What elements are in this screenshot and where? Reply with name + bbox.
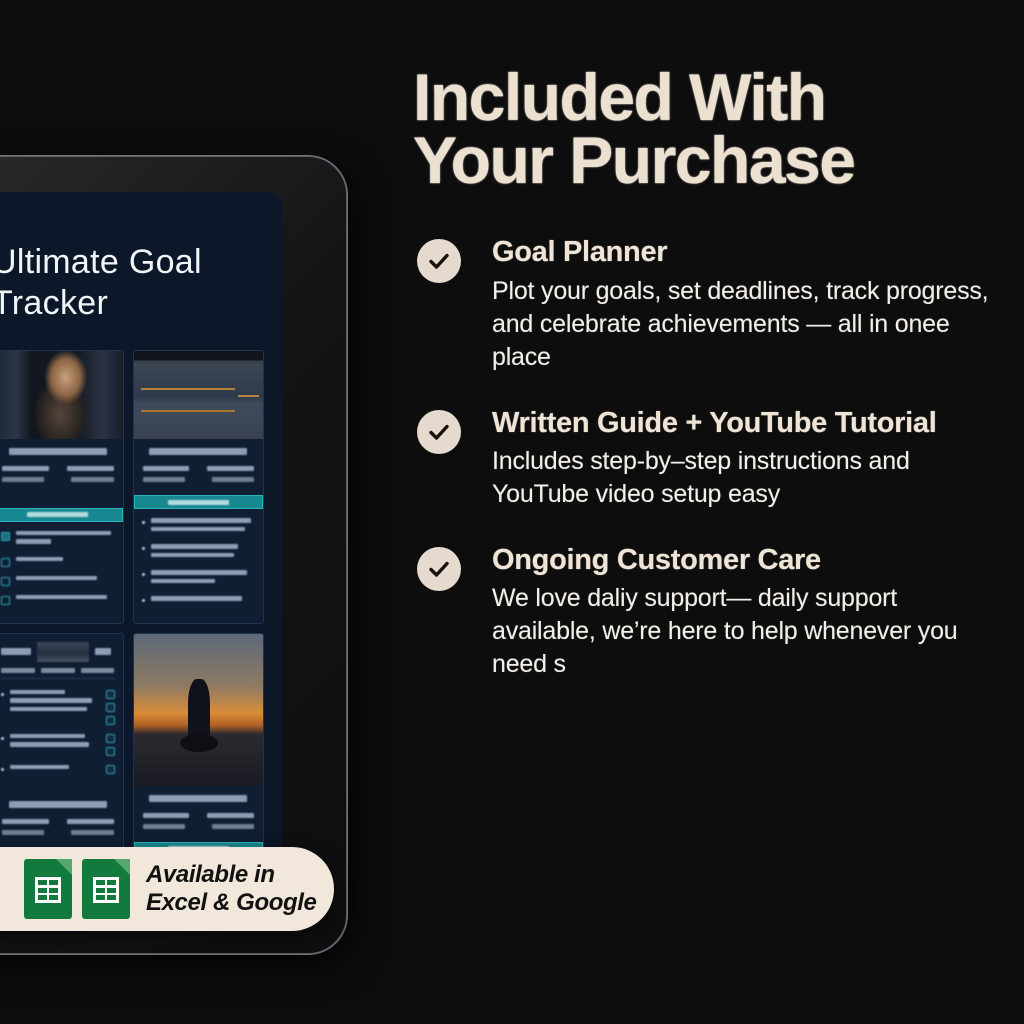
widget-tab-bar <box>1 668 115 679</box>
bullet-icon <box>142 547 145 550</box>
goal-card-meta <box>0 792 123 848</box>
badge-text: Available in Excel & Google <box>146 861 316 918</box>
list-item[interactable] <box>1 531 115 548</box>
item-text <box>151 518 256 535</box>
widget-title-row <box>1 642 115 662</box>
meta-label <box>2 819 49 824</box>
bullet-icon <box>142 573 145 576</box>
goal-card[interactable] <box>0 350 124 624</box>
plus-chip-icon[interactable] <box>106 703 115 712</box>
bullet-icon <box>1 737 4 740</box>
feature-item-goal-planner: Goal Planner Plot your goals, set deadli… <box>413 235 1003 373</box>
goal-card-meta <box>134 786 264 842</box>
widget-thumbnail <box>37 642 89 662</box>
list-item <box>142 544 256 561</box>
meta-value <box>212 477 254 482</box>
card-title-placeholder <box>9 448 107 455</box>
item-text <box>10 765 100 774</box>
check-circle-icon <box>417 239 461 283</box>
bullet-icon <box>142 599 145 602</box>
checkbox-list[interactable] <box>0 522 123 623</box>
item-text <box>16 595 115 604</box>
item-text <box>16 531 115 548</box>
tablet-screen: Ultimate Goal Tracker <box>0 192 282 917</box>
list-item[interactable] <box>1 690 115 725</box>
feature-title: Goal Planner <box>492 235 1003 269</box>
boxer-training-photo <box>0 351 123 439</box>
card-banner[interactable] <box>0 508 123 522</box>
plus-chip-icon[interactable] <box>106 734 115 743</box>
bullet-icon <box>142 521 145 524</box>
feature-description: We love daliy support— daily support ava… <box>492 582 1003 681</box>
goal-card[interactable] <box>133 350 265 624</box>
list-item[interactable] <box>1 595 115 605</box>
item-text <box>151 596 256 605</box>
bullet-icon <box>1 693 4 696</box>
list-item <box>142 596 256 605</box>
goal-card[interactable] <box>0 633 124 863</box>
card-title-placeholder <box>9 801 107 808</box>
goal-card-meta <box>0 439 123 508</box>
bullet-icon <box>1 768 4 771</box>
feature-title: Ongoing Customer Care <box>492 543 1003 577</box>
goal-card[interactable] <box>133 633 265 863</box>
feature-item-customer-care: Ongoing Customer Care We love daliy supp… <box>413 543 1003 681</box>
chip-list[interactable] <box>0 684 123 792</box>
card-meta-row <box>2 819 114 824</box>
list-item[interactable] <box>1 557 115 567</box>
available-in-badge: Available in Excel & Google <box>0 847 334 931</box>
meta-label <box>2 830 44 835</box>
plus-chip-icon[interactable] <box>106 765 115 774</box>
goal-card-grid <box>0 350 264 863</box>
item-text <box>16 576 115 585</box>
card-meta-row <box>143 813 255 818</box>
meta-value <box>207 813 254 818</box>
checkbox-icon[interactable] <box>1 596 10 605</box>
meta-label <box>143 813 190 818</box>
meta-value <box>71 830 113 835</box>
google-sheets-icon <box>82 859 130 919</box>
item-text <box>151 570 256 587</box>
item-text <box>16 557 115 566</box>
meta-label <box>2 466 49 471</box>
headline-line-2: Your Purchase <box>413 129 1003 192</box>
plus-chip-icon[interactable] <box>106 747 115 756</box>
meta-label <box>143 466 190 471</box>
card-title-placeholder <box>149 448 247 455</box>
meta-value <box>71 477 113 482</box>
feature-item-written-guide: Written Guide + YouTube Tutorial Include… <box>413 406 1003 511</box>
tablet-mockup: Ultimate Goal Tracker <box>0 155 348 955</box>
meta-value <box>67 466 114 471</box>
screen-title: Ultimate Goal Tracker <box>0 242 282 324</box>
widget-header <box>0 634 123 684</box>
meta-label <box>2 477 44 482</box>
badge-line-1: Available in <box>146 861 275 888</box>
badge-line-2: Excel & Google <box>146 889 316 916</box>
meta-value <box>212 824 254 829</box>
feature-description: Includes step-by–step instructions and Y… <box>492 445 1003 511</box>
sunset-meditation-photo <box>134 634 264 786</box>
card-banner[interactable] <box>134 495 264 509</box>
list-item[interactable] <box>1 765 115 774</box>
check-circle-icon <box>417 547 461 591</box>
meta-value <box>207 466 254 471</box>
card-meta-row <box>143 466 255 471</box>
list-item <box>142 570 256 587</box>
plus-chip-icon[interactable] <box>106 690 115 699</box>
card-title-placeholder <box>149 795 247 802</box>
banner-label-placeholder <box>27 512 88 517</box>
checkbox-icon[interactable] <box>1 532 10 541</box>
feature-title: Written Guide + YouTube Tutorial <box>492 406 1003 440</box>
kitchen-interior-photo <box>134 351 264 439</box>
card-meta-row <box>143 477 255 482</box>
goal-card-meta <box>134 439 264 495</box>
content-column: Included With Your Purchase Goal Planner… <box>413 66 1003 713</box>
meta-value <box>67 819 114 824</box>
item-text <box>10 734 100 751</box>
meta-label <box>143 824 185 829</box>
list-item <box>142 518 256 535</box>
card-meta-row <box>2 477 114 482</box>
item-text <box>10 690 100 716</box>
google-sheets-icon <box>24 859 72 919</box>
feature-description: Plot your goals, set deadlines, track pr… <box>492 275 1003 374</box>
meta-label <box>143 477 185 482</box>
item-text <box>151 544 256 561</box>
banner-label-placeholder <box>168 500 229 505</box>
page-title: Included With Your Purchase <box>413 66 1003 191</box>
card-meta-row <box>2 466 114 471</box>
bullet-list <box>134 509 264 623</box>
card-meta-row <box>2 830 114 835</box>
checkbox-icon[interactable] <box>1 558 10 567</box>
check-circle-icon <box>417 410 461 454</box>
plus-chip-icon[interactable] <box>106 716 115 725</box>
card-meta-row <box>143 824 255 829</box>
list-item[interactable] <box>1 576 115 586</box>
feature-list: Goal Planner Plot your goals, set deadli… <box>413 235 1003 681</box>
list-item[interactable] <box>1 734 115 756</box>
checkbox-icon[interactable] <box>1 577 10 586</box>
